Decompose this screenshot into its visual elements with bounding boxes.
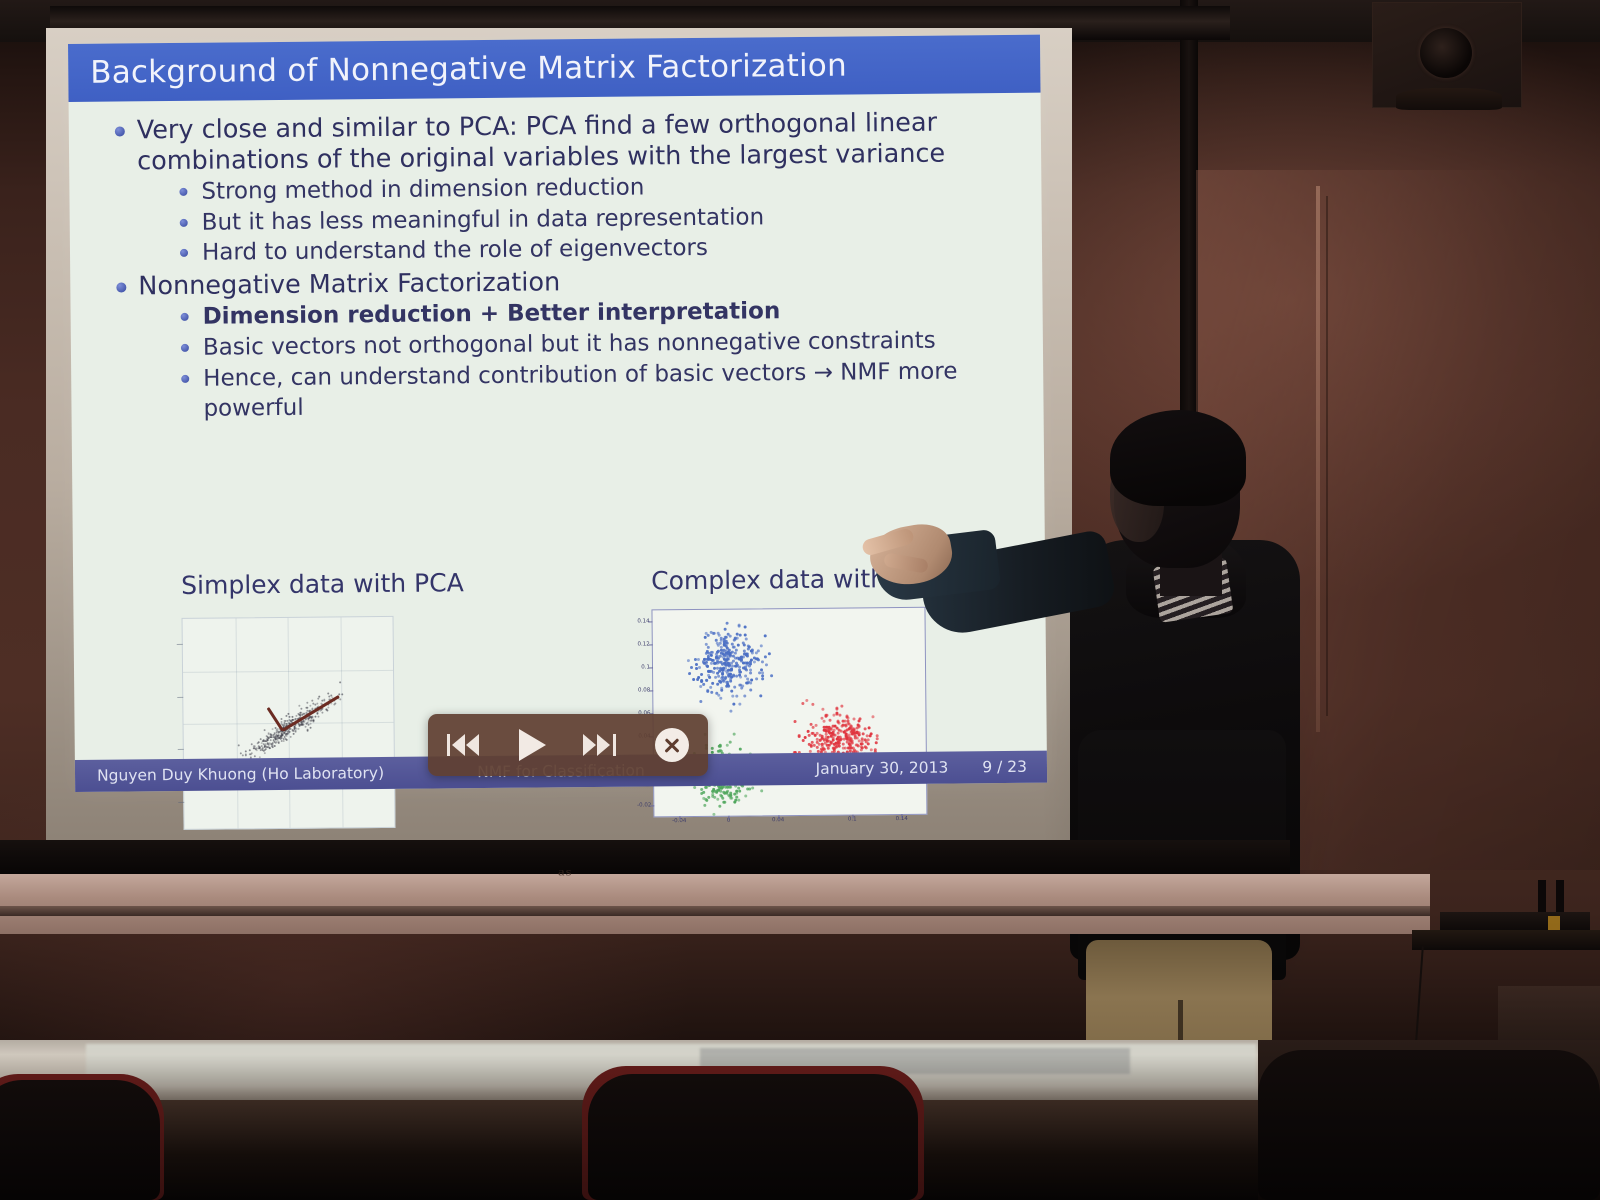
play-icon: [519, 729, 546, 761]
figure-pca: Simplex data with PCA: [181, 568, 466, 830]
presenter-person: [860, 400, 1330, 1060]
close-icon: [655, 728, 689, 762]
bullet-text: Dimension reduction + Better interpretat…: [203, 298, 781, 330]
whiteboard-strip: [0, 874, 1430, 934]
presenter-hair: [1110, 410, 1246, 506]
bullet-text: Strong method in dimension reduction: [201, 174, 644, 204]
bullet-list-level2: Strong method in dimension reduction But…: [137, 170, 1018, 270]
slide-title-bar: Background of Nonnegative Matrix Factori…: [68, 35, 1041, 102]
equipment-table: [1412, 930, 1600, 950]
bullet-dot-icon: [179, 188, 187, 196]
bullet-text: Basic vectors not orthogonal but it has …: [203, 328, 936, 361]
playback-control-bar[interactable]: [428, 714, 708, 776]
bullet-item: Very close and similar to PCA: PCA find …: [99, 107, 1018, 270]
bullet-text: But it has less meaningful in data repre…: [202, 204, 765, 235]
bullet-dot-icon: [180, 249, 188, 257]
bullet-list-level1: Very close and similar to PCA: PCA find …: [99, 107, 1020, 426]
chair-left: [0, 1080, 160, 1200]
x-axis-tick: [729, 816, 730, 820]
play-button[interactable]: [519, 729, 546, 761]
bullet-text: Hence, can understand contribution of ba…: [203, 358, 957, 421]
bullet-dot-icon: [116, 283, 126, 293]
bullet-dot-icon: [180, 218, 188, 226]
x-axis-tick: [778, 815, 779, 819]
pca-point-cloud: [183, 617, 395, 829]
whiteboard-note: as: [558, 866, 598, 880]
previous-icon: [447, 734, 481, 756]
bullet-dot-icon: [115, 126, 125, 136]
figure-pca-caption: Simplex data with PCA: [181, 568, 464, 600]
screenshot-root: Background of Nonnegative Matrix Factori…: [0, 0, 1600, 1200]
next-button[interactable]: [583, 734, 617, 756]
bullet-text: Very close and similar to PCA: PCA find …: [137, 108, 946, 177]
bullet-text: Hard to understand the role of eigenvect…: [202, 235, 708, 266]
bullet-dot-icon: [181, 375, 189, 383]
x-axis-tick: [679, 816, 680, 820]
close-button[interactable]: [655, 728, 689, 762]
bullet-dot-icon: [181, 344, 189, 352]
chair-right: [1258, 1050, 1600, 1200]
pca-scatter-plot: [182, 616, 396, 830]
footer-author: Nguyen Duy Khuong (Ho Laboratory): [75, 764, 405, 785]
y-axis-tick-label: -0.02: [637, 802, 651, 808]
previous-button[interactable]: [447, 734, 481, 756]
whiteboard-tray: [0, 906, 1430, 916]
speaker-cone-icon: [1420, 28, 1472, 78]
bullet-dot-icon: [181, 313, 189, 321]
speaker-bracket: [1396, 88, 1502, 110]
equipment-yellow-tag: [1548, 916, 1560, 930]
chair-center: [588, 1074, 918, 1200]
x-axis-tick: [852, 814, 853, 818]
next-icon: [583, 734, 617, 756]
bullet-text: Nonnegative Matrix Factorization: [138, 268, 560, 302]
slide-title: Background of Nonnegative Matrix Factori…: [68, 48, 847, 91]
screen-bottom-frame: [0, 840, 1290, 878]
